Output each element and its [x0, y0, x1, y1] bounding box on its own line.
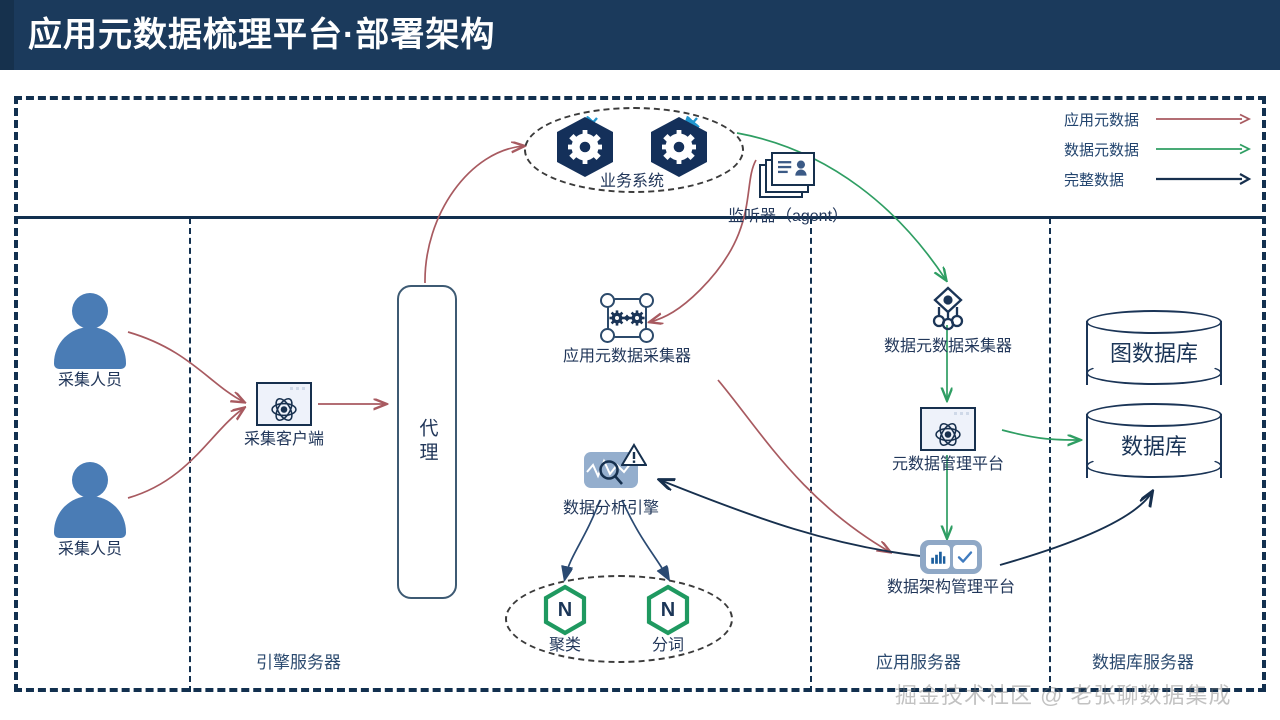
app-meta-collector-icon: [600, 293, 654, 343]
data-meta-collector-label: 数据元数据采集器: [884, 338, 1012, 356]
title-banner: 应用元数据梳理平台·部署架构: [0, 0, 1280, 70]
data-meta-collector-icon: [917, 283, 979, 333]
node-listener-agent[interactable]: 监听器（agent）: [712, 152, 864, 226]
node-business-system[interactable]: 业务系统: [546, 117, 718, 191]
collector-person-2-label: 采集人员: [58, 541, 122, 559]
zone-divider-right: [1049, 218, 1051, 692]
segment-label: 分词: [652, 637, 684, 655]
node-app-meta-collector[interactable]: 应用元数据采集器: [543, 293, 711, 366]
svg-text:N: N: [558, 599, 572, 621]
zone-divider-left: [189, 218, 191, 692]
page-title: 应用元数据梳理平台·部署架构: [28, 8, 495, 62]
collect-client-browser-icon: [256, 382, 312, 426]
listener-card-stack-icon: [759, 152, 817, 200]
node-data-meta-collector[interactable]: 数据元数据采集器: [863, 283, 1033, 356]
zone-label-app-server: 应用服务器: [876, 648, 961, 673]
analysis-engine-label: 数据分析引擎: [563, 500, 659, 518]
graph-db-label: 图数据库: [1086, 336, 1222, 368]
top-band-divider: [14, 216, 1266, 219]
cluster-label: 聚类: [549, 637, 581, 655]
legend-item-full-data: 完整数据: [1064, 164, 1264, 194]
warning-icon: [621, 443, 647, 467]
legend-arrow-app-metadata: [1154, 112, 1254, 126]
title-accent-bar: [0, 0, 14, 70]
app-meta-collector-label: 应用元数据采集器: [563, 348, 691, 366]
node-db[interactable]: 数据库: [1086, 403, 1222, 489]
node-analysis-engine[interactable]: 数据分析引擎: [549, 452, 673, 518]
legend-label-full-data: 完整数据: [1064, 169, 1154, 190]
check-icon: [953, 545, 977, 569]
bar-chart-icon: [926, 545, 950, 569]
node-segment[interactable]: N 分词: [644, 584, 692, 655]
zone-divider-middle: [810, 218, 812, 692]
node-collector-person-1[interactable]: 采集人员: [53, 293, 127, 390]
legend-item-app-metadata: 应用元数据: [1064, 104, 1264, 134]
person-icon: [53, 293, 127, 367]
node-collector-person-2[interactable]: 采集人员: [53, 462, 127, 559]
node-data-arch-platform[interactable]: 数据架构管理平台: [866, 540, 1036, 597]
legend-label-data-metadata: 数据元数据: [1064, 139, 1154, 160]
data-arch-platform-label: 数据架构管理平台: [887, 579, 1015, 597]
db-label: 数据库: [1086, 429, 1222, 461]
collect-client-label: 采集客户端: [244, 431, 324, 449]
person-icon: [53, 462, 127, 536]
analysis-engine-icon: [584, 452, 638, 488]
zone-label-db-server: 数据库服务器: [1092, 648, 1194, 673]
meta-mgmt-platform-label: 元数据管理平台: [892, 456, 1004, 474]
segment-hex-n-icon: N: [644, 584, 692, 636]
agent-proxy-label: 代理: [414, 418, 441, 466]
nlp-group-outline: [505, 575, 733, 663]
cluster-hex-n-icon: N: [541, 584, 589, 636]
legend-label-app-metadata: 应用元数据: [1064, 109, 1154, 130]
collector-person-1-label: 采集人员: [58, 372, 122, 390]
business-system-gear-icon-1: [557, 117, 613, 177]
diagram-canvas: 应用元数据梳理平台·部署架构: [0, 0, 1280, 720]
legend-item-data-metadata: 数据元数据: [1064, 134, 1264, 164]
node-collect-client[interactable]: 采集客户端: [228, 382, 340, 449]
node-graph-db[interactable]: 图数据库: [1086, 310, 1222, 396]
data-arch-platform-icon: [920, 540, 982, 574]
zone-label-engine-server: 引擎服务器: [256, 648, 341, 673]
node-cluster[interactable]: N 聚类: [541, 584, 589, 655]
business-system-gear-icon-2: [651, 117, 707, 177]
legend: 应用元数据 数据元数据 完整数据: [1064, 104, 1264, 194]
watermark: 掘金技术社区 @ 老张聊数据集成: [895, 678, 1232, 710]
meta-mgmt-platform-browser-icon: [920, 407, 976, 451]
legend-arrow-data-metadata: [1154, 142, 1254, 156]
svg-text:N: N: [661, 599, 675, 621]
listener-label: 监听器（agent）: [728, 208, 848, 226]
node-agent-proxy[interactable]: 代理: [397, 285, 457, 599]
node-meta-mgmt-platform[interactable]: 元数据管理平台: [891, 407, 1005, 474]
legend-arrow-full-data: [1154, 172, 1254, 186]
